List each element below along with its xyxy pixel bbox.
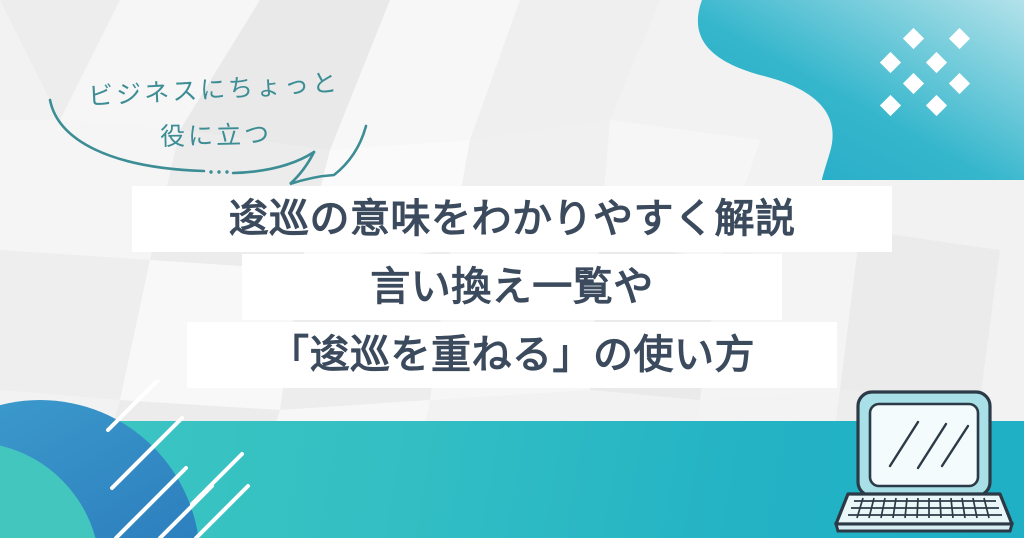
speech-bubble-outline: [18, 44, 398, 194]
title-line-3: 「逡巡を重ねる」の使い方: [187, 322, 837, 388]
title-row-1: 逡巡の意味をわかりやすく解説: [0, 186, 1024, 252]
diamond-dots-pattern: [880, 28, 990, 118]
diagonal-stripes: [0, 380, 330, 538]
title-row-3: 「逡巡を重ねる」の使い方: [0, 322, 1024, 388]
title-line-1: 逡巡の意味をわかりやすく解説: [132, 186, 892, 252]
title-row-2: 言い換え一覧や: [0, 254, 1024, 320]
title-line-2: 言い換え一覧や: [242, 254, 782, 320]
banner-canvas: ビジネスにちょっと 役に立つ 逡巡の意味をわかりやすく解説 言い換え一覧や 「逡…: [0, 0, 1024, 538]
laptop-icon: [818, 386, 1018, 536]
bottom-left-decoration: [0, 380, 330, 538]
page-title: 逡巡の意味をわかりやすく解説 言い換え一覧や 「逡巡を重ねる」の使い方: [0, 186, 1024, 388]
